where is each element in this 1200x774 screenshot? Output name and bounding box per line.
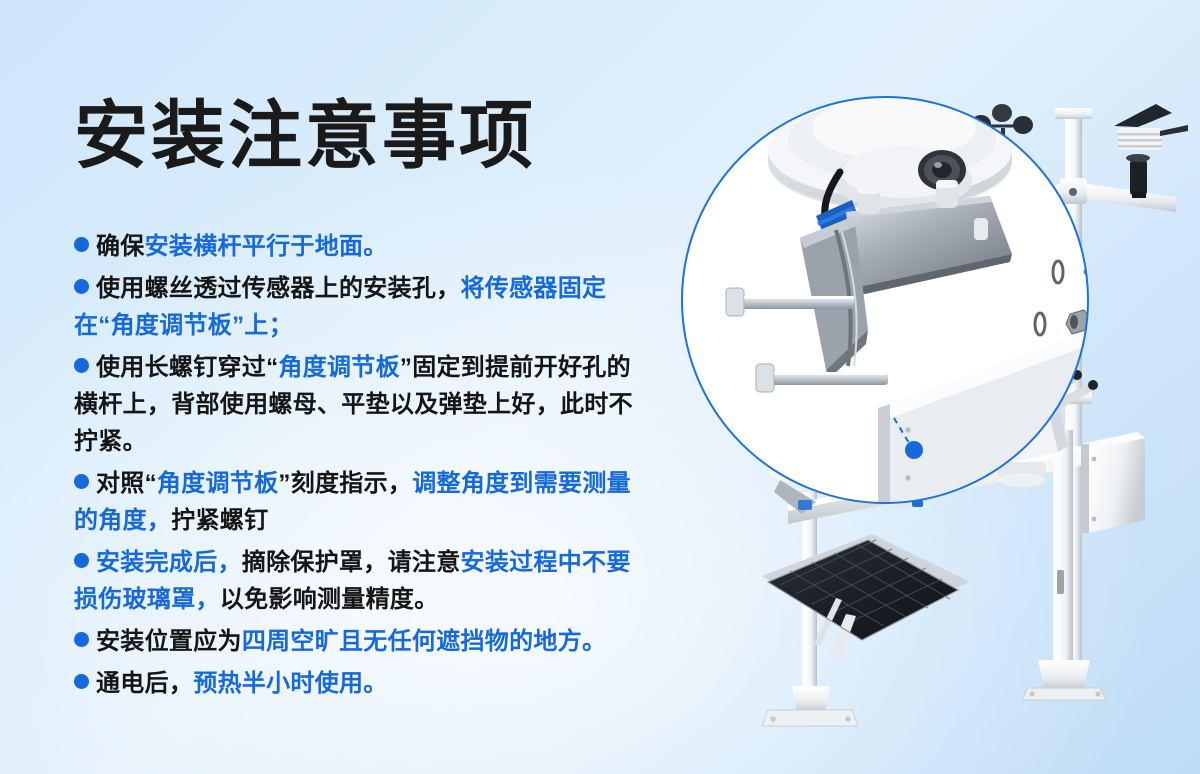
note-segment: 摘除保护罩，请注意: [242, 549, 461, 576]
bullet-dot-icon: [74, 553, 89, 568]
radiation-shield: [768, 82, 1012, 210]
page-title: 安装注意事项: [74, 94, 536, 178]
note-segment: 通电后，: [96, 670, 193, 697]
note-segment: 拧紧螺钉: [171, 507, 268, 534]
note-segment: 使用螺丝透过传感器上的安装孔，: [96, 275, 461, 302]
note-segment: 使用长螺钉穿过“: [96, 354, 278, 381]
note-2: 使用螺丝透过传感器上的安装孔，将传感器固定在“角度调节板”上；: [74, 270, 640, 344]
bullet-dot-icon: [74, 237, 89, 252]
junction-box: [1081, 432, 1145, 533]
note-segment: 预热半小时使用。: [193, 670, 387, 697]
text-column: 安装注意事项 确保安装横杆平行于地面。 使用螺丝透过传感器上的安装孔，将传感器固…: [0, 0, 660, 774]
wind-vane: [1114, 104, 1188, 198]
bullet-dot-icon: [74, 474, 89, 489]
note-5: 安装完成后，摘除保护罩，请注意安装过程中不要损伤玻璃罩，以免影响测量精度。: [74, 544, 640, 618]
bullet-dot-icon: [74, 358, 89, 373]
note-segment: 角度调节板: [157, 470, 279, 497]
note-segment: ”刻度指示，: [278, 470, 412, 497]
note-segment: 四周空旷且无任何遮挡物的地方。: [242, 628, 607, 655]
notes-list: 确保安装横杆平行于地面。 使用螺丝透过传感器上的安装孔，将传感器固定在“角度调节…: [74, 228, 640, 707]
note-segment: 以免影响测量精度。: [220, 586, 439, 613]
note-segment: 角度调节板: [278, 354, 400, 381]
note-segment: 确保: [96, 233, 145, 260]
base-plate-left: [762, 686, 858, 726]
solar-panel: [762, 534, 970, 660]
note-4: 对照“角度调节板”刻度指示，调整角度到需要测量的角度，拧紧螺钉: [74, 465, 640, 539]
note-segment: 安装横杆平行于地面。: [145, 233, 388, 260]
note-1: 确保安装横杆平行于地面。: [74, 228, 640, 265]
note-segment: 安装完成后，: [96, 549, 242, 576]
bullet-dot-icon: [74, 279, 89, 294]
note-6: 安装位置应为四周空旷且无任何遮挡物的地方。: [74, 623, 640, 660]
weather-station-illustration: [640, 0, 1200, 774]
note-segment: 对照“: [96, 470, 157, 497]
note-7: 通电后，预热半小时使用。: [74, 665, 640, 702]
bullet-dot-icon: [74, 674, 89, 689]
bullet-dot-icon: [74, 632, 89, 647]
note-segment: 安装位置应为: [96, 628, 242, 655]
note-3: 使用长螺钉穿过“角度调节板”固定到提前开好孔的横杆上，背部使用螺母、平垫以及弹垫…: [74, 349, 640, 460]
poster-root: 安装注意事项 确保安装横杆平行于地面。 使用螺丝透过传感器上的安装孔，将传感器固…: [0, 0, 1200, 774]
